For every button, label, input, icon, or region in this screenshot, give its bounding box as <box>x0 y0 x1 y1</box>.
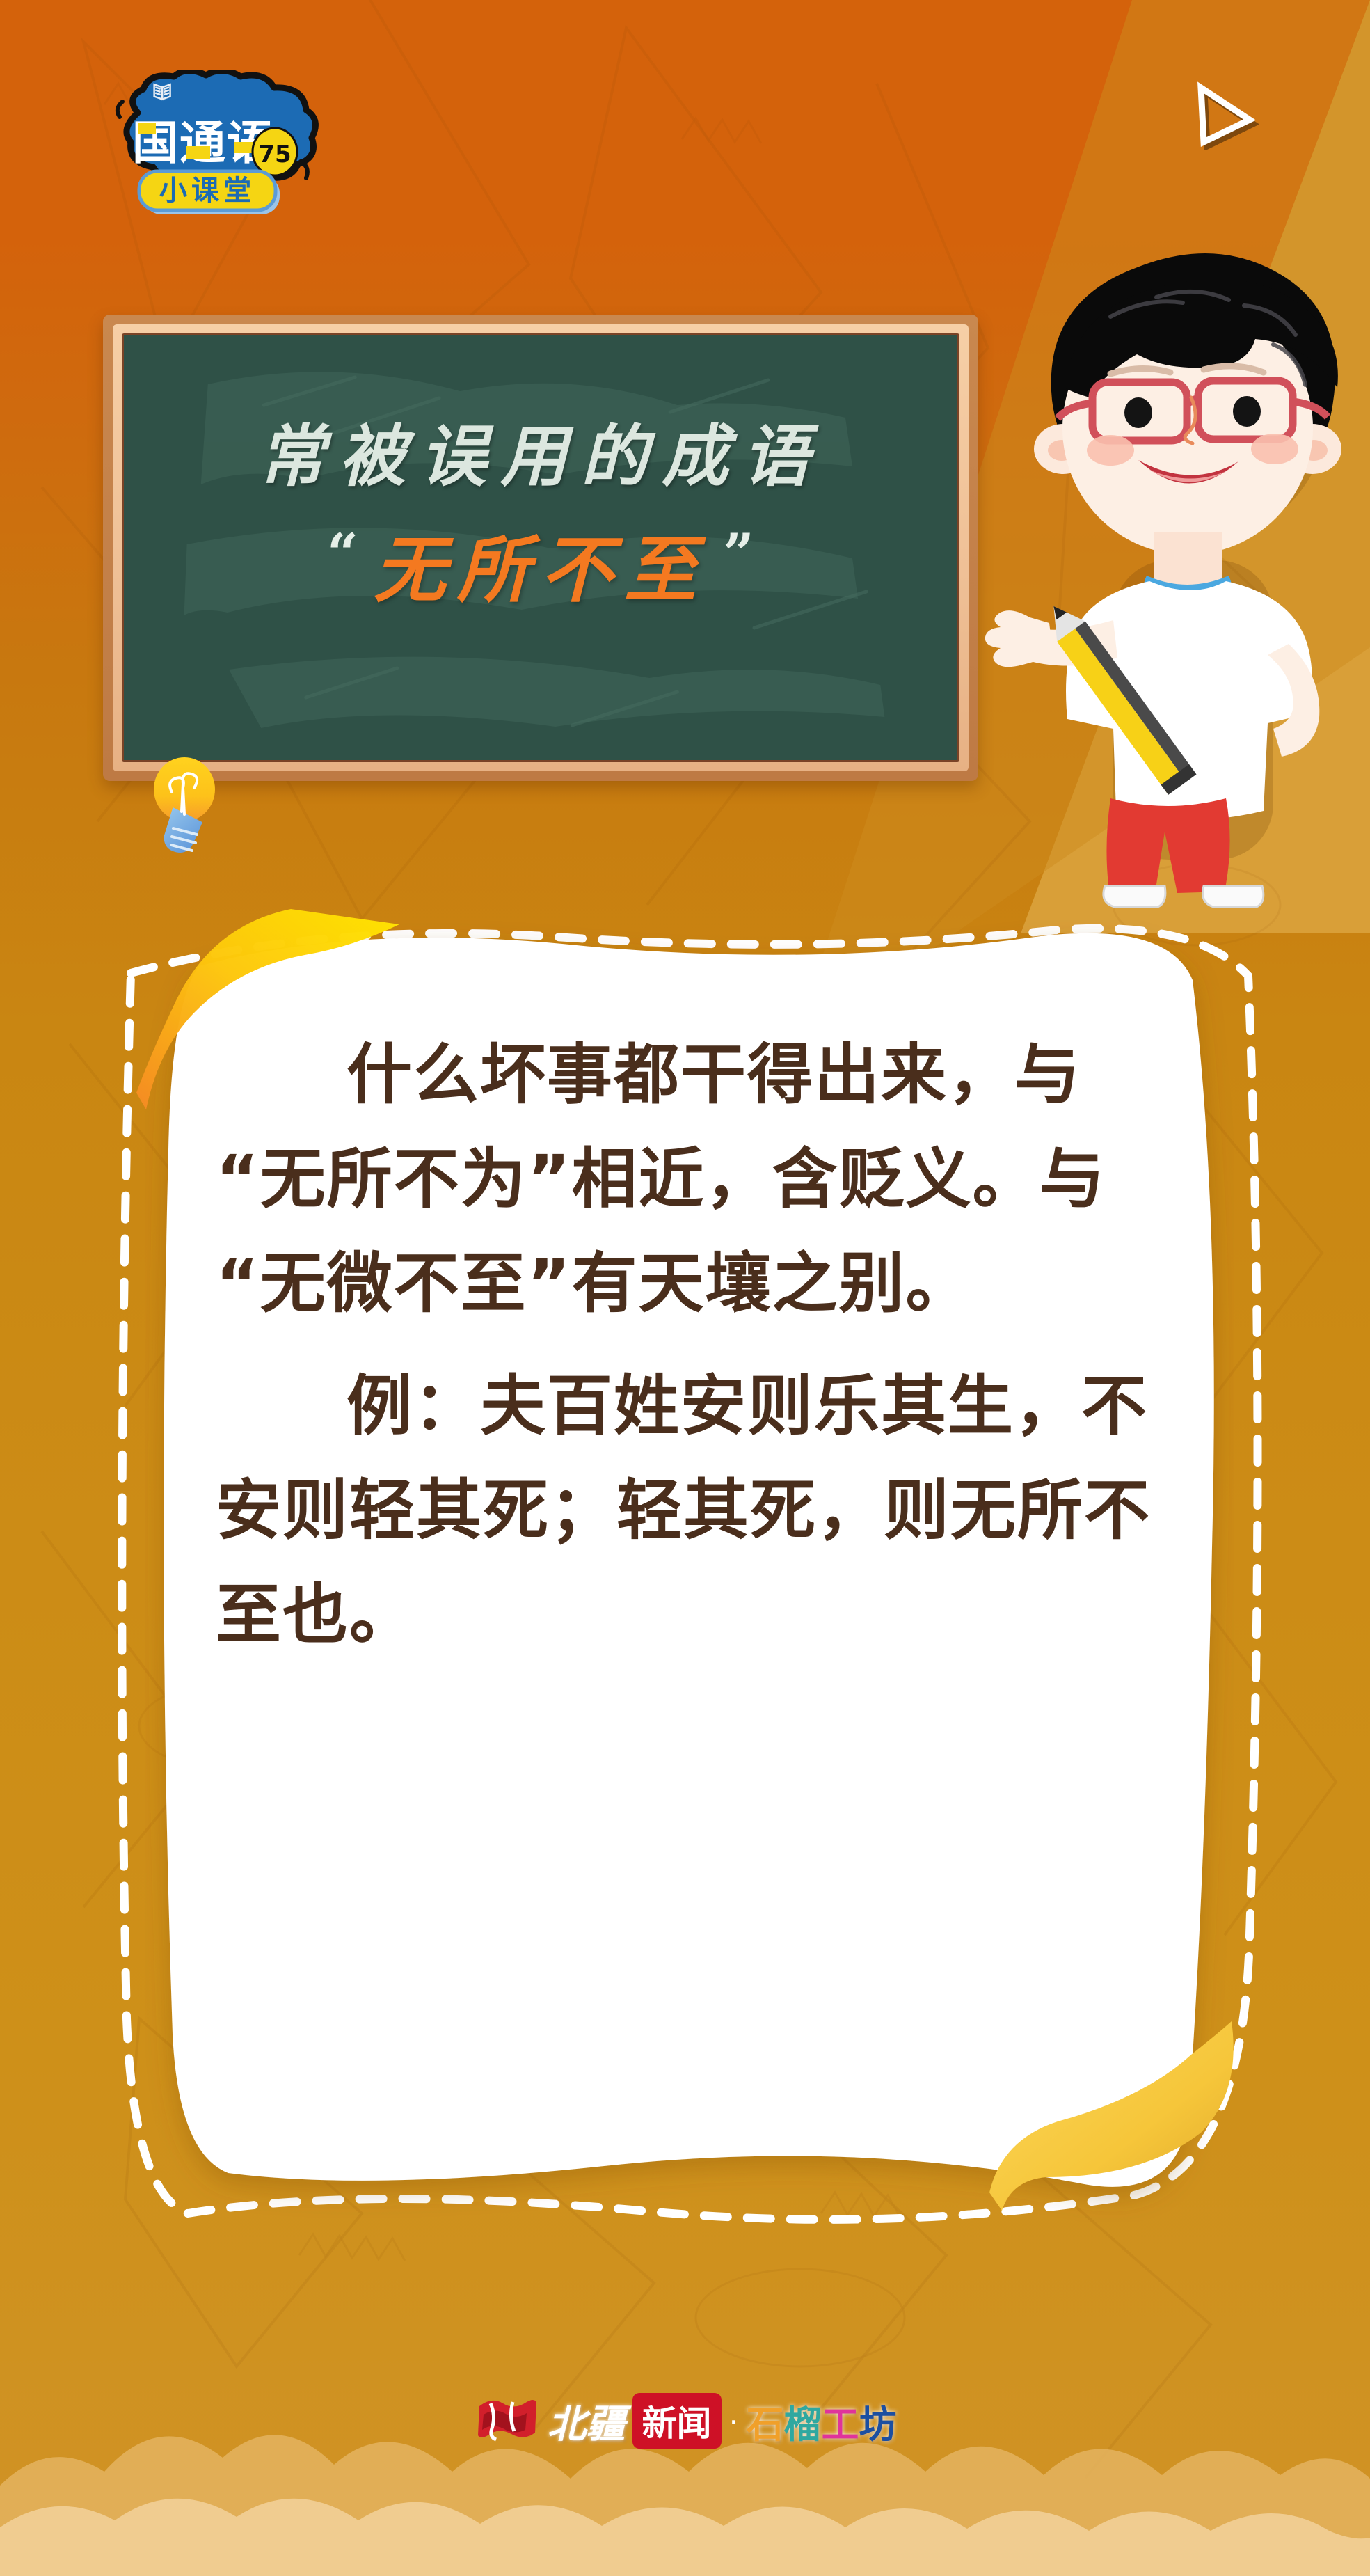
poster-root: 国通语 75 小课堂 国通语 75 小课堂 <box>0 0 1370 2576</box>
footer-workshop-char-4: 坊 <box>859 2403 896 2447</box>
footer-separator: · <box>728 2404 740 2437</box>
card-paragraph-definition: 什么坏事都干得出来，与“无所不为”相近，含贬义。与“无微不至”有天壤之别。 <box>216 1023 1190 1336</box>
chalkboard-surface: 常被误用的成语 “ 无所不至 ” <box>122 333 959 762</box>
chalkboard: 常被误用的成语 “ 无所不至 ” <box>103 315 978 781</box>
footer-text-row: 北疆 新闻 · 石榴工坊 <box>548 2393 897 2449</box>
ribbon-corner-bottom-right <box>914 2016 1262 2245</box>
footer-workshop-char-1: 石 <box>746 2403 783 2447</box>
quote-open-mark: “ <box>327 527 358 581</box>
logo-episode-badge: 75 <box>253 128 297 175</box>
content-card: 什么坏事都干得出来，与“无所不为”相近，含贬义。与“无微不至”有天壤之别。 例：… <box>111 891 1266 2255</box>
footer-workshop-char-3: 工 <box>821 2403 859 2447</box>
footer-outlet-name: 北疆 <box>548 2393 626 2449</box>
card-body-text: 什么坏事都干得出来，与“无所不为”相近，含贬义。与“无微不至”有天壤之别。 例：… <box>216 1023 1190 1686</box>
logo-subtitle-ribbon: 小课堂 <box>139 171 280 214</box>
red-flag-icon <box>474 2391 538 2451</box>
lightbulb-icon <box>148 750 225 855</box>
footer-news-badge: 新闻 <box>632 2393 722 2449</box>
svg-text:小课堂: 小课堂 <box>159 175 255 207</box>
footer-workshop-name: 石榴工坊 <box>746 2394 896 2449</box>
footer-branding[interactable]: 北疆 新闻 · 石榴工坊 <box>0 2372 1370 2470</box>
svg-text:75: 75 <box>258 141 291 168</box>
quote-close-mark: ” <box>723 527 754 581</box>
chalkboard-idiom-row: “ 无所不至 ” <box>124 511 957 616</box>
card-paragraph-example: 例：夫百姓安则乐其生，不安则轻其死；轻其死，则无所不至也。 <box>216 1354 1190 1668</box>
footer-workshop-char-2: 榴 <box>783 2403 821 2447</box>
chalkboard-title: 常被误用的成语 <box>124 402 957 499</box>
brand-logo[interactable]: 国通语 75 小课堂 <box>104 70 334 223</box>
play-triangle-icon <box>1183 77 1259 150</box>
chalkboard-idiom: 无所不至 <box>374 511 708 616</box>
chalkboard-frame-inner: 常被误用的成语 “ 无所不至 ” <box>113 324 969 771</box>
